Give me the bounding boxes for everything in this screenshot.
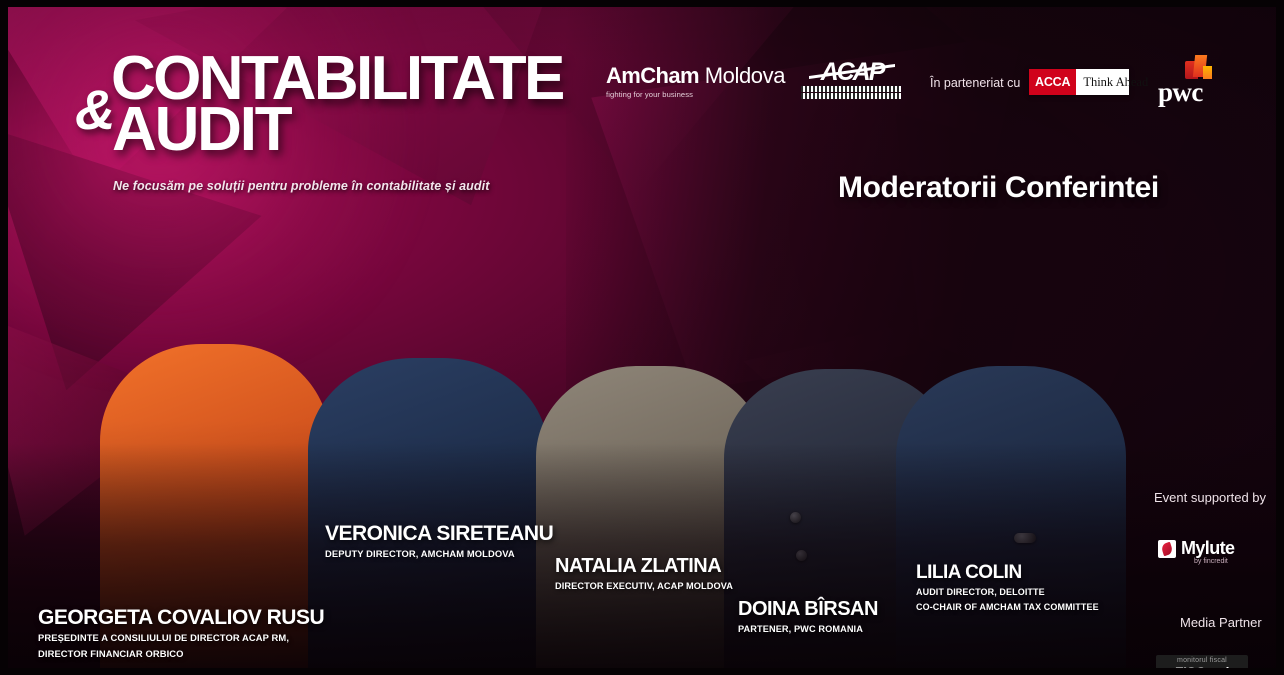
mylute-logo: Mylute — [1158, 538, 1234, 559]
acap-strip-lower — [801, 93, 901, 99]
event-title-line-2: AUDIT — [112, 99, 290, 161]
moderator-role-line-1: AUDIT DIRECTOR, DELOITTE — [916, 586, 1099, 598]
event-supported-label: Event supported by — [1154, 490, 1266, 505]
acca-logo: ACCA Think Ahead — [1029, 69, 1129, 95]
acap-logo: ACAP — [801, 59, 901, 101]
presentation-slide: & CONTABILITATE AUDIT Ne focusăm pe solu… — [0, 0, 1284, 675]
pwc-mark-icon — [1185, 57, 1213, 79]
moderator-name: GEORGETA COVALIOV RUSU — [38, 607, 324, 629]
moderator-name: VERONICA SIRETEANU — [325, 523, 553, 545]
pwc-wordmark: pwc — [1158, 79, 1203, 106]
fisc-bottom-text: FISC.md — [1156, 665, 1248, 668]
moderator-name: NATALIA ZLATINA — [555, 556, 733, 577]
title-ampersand: & — [75, 82, 113, 138]
moderator-role-line-1: PREȘEDINTE A CONSILIULUI DE DIRECTOR ACA… — [38, 632, 324, 645]
moderator-name: LILIA COLIN — [916, 563, 1099, 583]
media-partner-label: Media Partner — [1180, 615, 1262, 630]
event-tagline: Ne focusăm pe soluții pentru probleme în… — [113, 179, 490, 193]
moderator-role-line-2: DIRECTOR FINANCIAR ORBICO — [38, 648, 324, 661]
mylute-wordmark: Mylute — [1181, 538, 1234, 559]
pwc-logo: pwc — [1158, 57, 1230, 109]
moderator-role-line-2: CO-CHAIR OF AMCHAM TAX COMMITTEE — [916, 601, 1099, 613]
mylute-byline: by fincredit — [1194, 558, 1228, 565]
acap-strip-upper — [801, 86, 901, 92]
moderator-caption-1: GEORGETA COVALIOV RUSU PREȘEDINTE A CONS… — [38, 607, 324, 660]
moderator-role-line-1: DIRECTOR EXECUTIV, ACAP MOLDOVA — [555, 580, 733, 592]
moderator-role-line-1: PARTENER, PWC ROMANIA — [738, 623, 878, 635]
moderator-name: DOINA BÎRSAN — [738, 599, 878, 620]
acca-wordmark: ACCA — [1029, 69, 1076, 95]
amcham-tagline: fighting for your business — [606, 91, 785, 99]
moderator-caption-3: NATALIA ZLATINA DIRECTOR EXECUTIV, ACAP … — [555, 556, 733, 592]
amcham-light-text: Moldova — [699, 63, 785, 88]
moderator-caption-2: VERONICA SIRETEANU DEPUTY DIRECTOR, AMCH… — [325, 523, 553, 561]
moderator-caption-4: DOINA BÎRSAN PARTENER, PWC ROMANIA — [738, 599, 878, 635]
acap-wordmark: ACAP — [805, 59, 899, 85]
amcham-bold-text: AmCham — [606, 63, 699, 88]
acca-slogan: Think Ahead — [1076, 69, 1155, 95]
fisc-logo: monitorul fiscal FISC.md — [1156, 655, 1248, 668]
slide-frame: & CONTABILITATE AUDIT Ne focusăm pe solu… — [8, 7, 1276, 668]
section-heading: Moderatorii Conferintei — [838, 171, 1159, 205]
mylute-leaf-icon — [1158, 540, 1176, 558]
partnership-label: În parteneriat cu — [930, 76, 1020, 90]
moderator-role-line-1: DEPUTY DIRECTOR, AMCHAM MOLDOVA — [325, 548, 553, 561]
moderator-caption-5: LILIA COLIN AUDIT DIRECTOR, DELOITTE CO-… — [916, 563, 1099, 613]
amcham-logo: AmCham Moldova fighting for your busines… — [606, 65, 785, 99]
